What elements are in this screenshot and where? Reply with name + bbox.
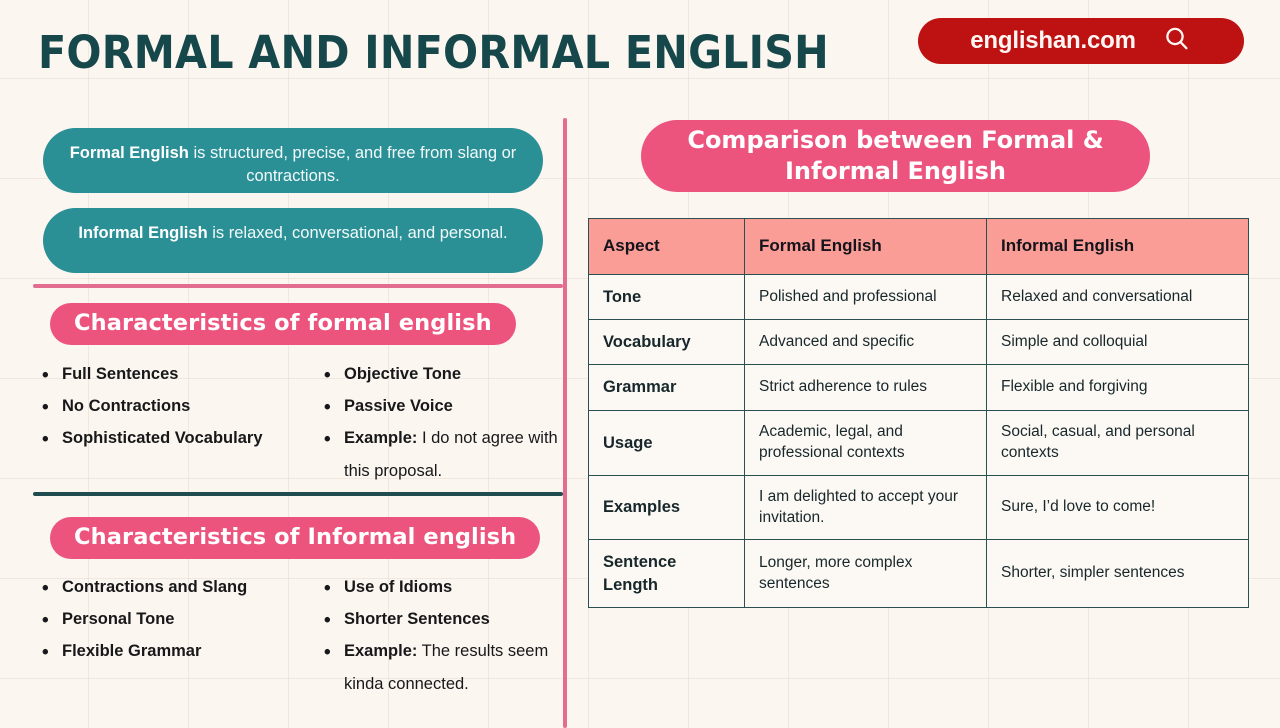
cell-formal: Academic, legal, and professional contex… bbox=[745, 410, 987, 475]
table-row: Sentence Length Longer, more complex sen… bbox=[589, 540, 1249, 608]
comparison-table: Aspect Formal English Informal English T… bbox=[588, 218, 1249, 608]
cell-informal: Flexible and forgiving bbox=[987, 365, 1249, 410]
list-item-label: Contractions and Slang bbox=[62, 578, 247, 596]
definition-term: Informal English bbox=[78, 224, 207, 242]
formal-characteristics-list: Full Sentences No Contractions Sophistic… bbox=[38, 358, 558, 487]
table-column-header-formal: Formal English bbox=[745, 219, 987, 275]
cell-aspect: Tone bbox=[589, 274, 745, 319]
cell-aspect: Vocabulary bbox=[589, 320, 745, 365]
list-item-label: Flexible Grammar bbox=[62, 642, 201, 660]
list-item: Shorter Sentences bbox=[320, 603, 558, 635]
heading-informal-characteristics: Characteristics of Informal english bbox=[50, 517, 540, 559]
cell-informal: Simple and colloquial bbox=[987, 320, 1249, 365]
list-item: Personal Tone bbox=[38, 603, 298, 635]
list-item-label: Use of Idioms bbox=[344, 578, 452, 596]
list-item-example: Example: I do not agree with this propos… bbox=[320, 422, 558, 486]
informal-bullets-left: Contractions and Slang Personal Tone Fle… bbox=[38, 571, 298, 700]
definition-text: is relaxed, conversational, and personal… bbox=[208, 224, 508, 242]
table-column-header-aspect: Aspect bbox=[589, 219, 745, 275]
list-item: No Contractions bbox=[38, 390, 298, 422]
table-row: Vocabulary Advanced and specific Simple … bbox=[589, 320, 1249, 365]
cell-formal: I am delighted to accept your invitation… bbox=[745, 475, 987, 540]
divider-teal bbox=[33, 492, 563, 496]
cell-formal: Polished and professional bbox=[745, 274, 987, 319]
definition-text: is structured, precise, and free from sl… bbox=[189, 144, 516, 185]
table-row: Examples I am delighted to accept your i… bbox=[589, 475, 1249, 540]
list-item-label: Passive Voice bbox=[344, 397, 453, 415]
cell-formal: Strict adherence to rules bbox=[745, 365, 987, 410]
definition-formal-english: Formal English is structured, precise, a… bbox=[43, 128, 543, 193]
table-column-header-informal: Informal English bbox=[987, 219, 1249, 275]
list-item-label: Sophisticated Vocabulary bbox=[62, 429, 263, 447]
table-row: Tone Polished and professional Relaxed a… bbox=[589, 274, 1249, 319]
list-item: Flexible Grammar bbox=[38, 635, 298, 667]
cell-informal: Shorter, simpler sentences bbox=[987, 540, 1249, 608]
list-item-label: Shorter Sentences bbox=[344, 610, 490, 628]
cell-aspect: Grammar bbox=[589, 365, 745, 410]
cell-informal: Social, casual, and personal contexts bbox=[987, 410, 1249, 475]
informal-bullets-right: Use of Idioms Shorter Sentences Example:… bbox=[298, 571, 558, 700]
list-item: Use of Idioms bbox=[320, 571, 558, 603]
formal-bullets-left: Full Sentences No Contractions Sophistic… bbox=[38, 358, 298, 487]
formal-bullets-right: Objective Tone Passive Voice Example: I … bbox=[298, 358, 558, 487]
cell-informal: Sure, I’d love to come! bbox=[987, 475, 1249, 540]
list-item-example: Example: The results seem kinda connecte… bbox=[320, 635, 558, 699]
left-column: Formal English is structured, precise, a… bbox=[0, 0, 563, 728]
table-row: Grammar Strict adherence to rules Flexib… bbox=[589, 365, 1249, 410]
cell-aspect: Sentence Length bbox=[589, 540, 745, 608]
divider-pink bbox=[33, 284, 563, 288]
cell-aspect: Usage bbox=[589, 410, 745, 475]
list-item: Objective Tone bbox=[320, 358, 558, 390]
list-item: Full Sentences bbox=[38, 358, 298, 390]
list-item-label: No Contractions bbox=[62, 397, 190, 415]
list-item: Sophisticated Vocabulary bbox=[38, 422, 298, 454]
list-item-label: Personal Tone bbox=[62, 610, 174, 628]
list-item: Passive Voice bbox=[320, 390, 558, 422]
informal-characteristics-list: Contractions and Slang Personal Tone Fle… bbox=[38, 571, 558, 700]
list-item-label: Example: bbox=[344, 429, 417, 447]
cell-formal: Longer, more complex sentences bbox=[745, 540, 987, 608]
list-item-label: Example: bbox=[344, 642, 417, 660]
heading-formal-characteristics: Characteristics of formal english bbox=[50, 303, 516, 345]
heading-comparison: Comparison between Formal & Informal Eng… bbox=[641, 120, 1150, 192]
table-header-row: Aspect Formal English Informal English bbox=[589, 219, 1249, 275]
cell-informal: Relaxed and conversational bbox=[987, 274, 1249, 319]
definition-term: Formal English bbox=[70, 144, 189, 162]
definition-informal-english: Informal English is relaxed, conversatio… bbox=[43, 208, 543, 273]
list-item: Contractions and Slang bbox=[38, 571, 298, 603]
list-item-label: Full Sentences bbox=[62, 365, 178, 383]
cell-formal: Advanced and specific bbox=[745, 320, 987, 365]
right-column: Comparison between Formal & Informal Eng… bbox=[563, 0, 1280, 728]
cell-aspect: Examples bbox=[589, 475, 745, 540]
table-row: Usage Academic, legal, and professional … bbox=[589, 410, 1249, 475]
list-item-label: Objective Tone bbox=[344, 365, 461, 383]
